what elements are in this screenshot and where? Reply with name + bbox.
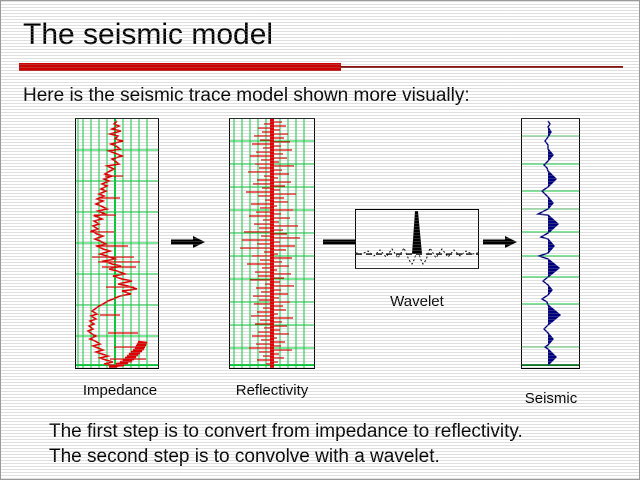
seismic-panel (521, 118, 580, 369)
footer-text: The first step is to convert from impeda… (49, 419, 523, 469)
wavelet-label: Wavelet (369, 293, 465, 311)
impedance-curve (88, 121, 137, 367)
reflectivity-panel (229, 118, 315, 369)
page-title: The seismic model (23, 18, 273, 52)
impedance-label: Impedance (75, 382, 165, 400)
title-rule-thick (19, 63, 341, 71)
footer-line-2: The second step is to convolve with a wa… (49, 444, 523, 469)
arrow-impedance-to-reflectivity (171, 234, 205, 250)
wavelet-plot (356, 210, 478, 268)
arrow-wavelet-to-seismic (483, 234, 517, 250)
wavelet-peak (412, 211, 422, 254)
impedance-plot (76, 119, 158, 368)
slide: The seismic model Here is the seismic tr… (0, 0, 640, 480)
subtitle-text: Here is the seismic trace model shown mo… (23, 84, 470, 107)
impedance-panel (75, 118, 159, 369)
seismic-plot (522, 119, 579, 368)
seismic-label: Seismic (514, 390, 588, 408)
arrow-reflectivity-to-wavelet (323, 234, 357, 250)
wavelet-panel (355, 209, 479, 269)
footer-line-1: The first step is to convert from impeda… (49, 419, 523, 444)
reflectivity-label: Reflectivity (223, 382, 321, 400)
reflectivity-plot (230, 119, 314, 368)
